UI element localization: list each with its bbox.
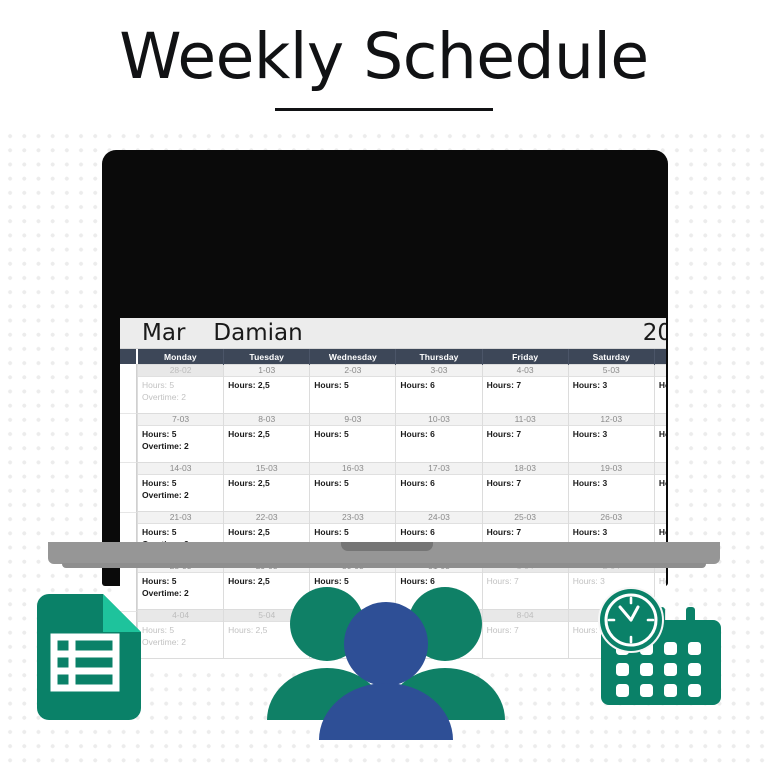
calendar-day-entry: Hours: 5: [314, 527, 395, 539]
calendar-day-number: 18-03: [483, 463, 568, 475]
spreadsheet-file-icon: [25, 580, 153, 730]
calendar-day-entry: Hours: 3: [573, 429, 654, 441]
calendar-day-entry: Hours: 5: [142, 478, 223, 490]
calendar-day-entries: Hours: 3: [569, 377, 654, 392]
calendar-day-header[interactable]: Tuesday: [224, 349, 310, 365]
calendar-day-header[interactable]: Su: [654, 349, 666, 365]
spreadsheet-file-icon-svg: [25, 580, 153, 725]
calendar-day-entry: Hours: 5: [314, 478, 395, 490]
calendar-day-entry: Hours: 2: [659, 478, 666, 490]
calendar-day-number: 26-03: [569, 512, 654, 524]
calendar-day-entry: Overtime: 2: [142, 490, 223, 502]
calendar-day-entries: Hours: 3: [569, 475, 654, 490]
row-header-cell[interactable]: [120, 414, 137, 464]
calendar-day-entry: Hours: 5: [142, 380, 223, 392]
calendar-day-entry: Hours: 2,5: [228, 429, 309, 441]
calendar-day-entry: Hours: 5: [314, 429, 395, 441]
calendar-day-cell[interactable]: 1-03Hours: 2,5: [224, 365, 310, 414]
calendar-day-entry: Hours: 7: [487, 478, 568, 490]
calendar-day-entry: Hours: 7: [487, 527, 568, 539]
calendar-day-header[interactable]: Monday: [138, 349, 224, 365]
clock-calendar-icon-svg: [590, 580, 750, 730]
calendar-day-entry: Hours: 6: [400, 478, 481, 490]
calendar-day-entries: Hours: 2,5: [224, 524, 309, 539]
calendar-day-entries: Hours: 2,5: [224, 426, 309, 441]
calendar-day-number: 23-03: [310, 512, 395, 524]
calendar-day-number: 25-03: [483, 512, 568, 524]
calendar-day-cell[interactable]: 14-03Hours: 5Overtime: 2: [138, 463, 224, 512]
row-header-cell[interactable]: [120, 364, 137, 414]
calendar-day-cell[interactable]: 13Hours: 2: [654, 414, 666, 463]
calendar-day-entry: Hours: 2: [659, 380, 666, 392]
calendar-week-row: 14-03Hours: 5Overtime: 215-03Hours: 2,51…: [138, 463, 667, 512]
clock-calendar-icon: [590, 580, 750, 735]
title-block: Weekly Schedule: [0, 0, 768, 126]
calendar-day-entry: Hours: 2,5: [228, 527, 309, 539]
calendar-day-cell[interactable]: 20Hours: 2: [654, 463, 666, 512]
calendar-day-entries: Hours: 3: [569, 426, 654, 441]
year-cell[interactable]: 20: [643, 322, 666, 345]
calendar-day-cell[interactable]: 28-02Hours: 5Overtime: 2: [138, 365, 224, 414]
calendar-day-cell[interactable]: 7-03Hours: 5Overtime: 2: [138, 414, 224, 463]
grid-corner-cell[interactable]: [120, 349, 137, 364]
calendar-day-cell[interactable]: 16-03Hours: 5: [310, 463, 396, 512]
calendar-day-entries: Hours: 2: [655, 377, 666, 392]
calendar-day-number: 4-03: [483, 365, 568, 377]
calendar-day-entries: Hours: 3: [569, 524, 654, 539]
calendar-day-number: 5-03: [569, 365, 654, 377]
calendar-day-entry: Hours: 3: [573, 527, 654, 539]
calendar-day-header[interactable]: Saturday: [568, 349, 654, 365]
calendar-day-entry: Hours: 2: [659, 429, 666, 441]
calendar-day-header[interactable]: Thursday: [396, 349, 482, 365]
calendar-day-entries: Hours: 5: [310, 377, 395, 392]
calendar-day-entries: Hours: 2: [655, 426, 666, 441]
calendar-day-number: 28-02: [138, 365, 223, 377]
calendar-day-entry: Hours: 3: [573, 478, 654, 490]
calendar-day-number: 8-03: [224, 414, 309, 426]
calendar-day-entries: Hours: 5: [310, 475, 395, 490]
calendar-day-entry: Hours: 7: [487, 380, 568, 392]
calendar-day-entries: Hours: 2: [655, 524, 666, 539]
calendar-day-cell[interactable]: 18-03Hours: 7: [482, 463, 568, 512]
calendar-day-number: 10-03: [396, 414, 481, 426]
calendar-day-entries: Hours: 2,5: [224, 475, 309, 490]
calendar-day-cell[interactable]: 3-03Hours: 6: [396, 365, 482, 414]
calendar-day-entries: Hours: 5Overtime: 2: [138, 377, 223, 403]
calendar-day-number: 16-03: [310, 463, 395, 475]
calendar-day-cell[interactable]: 2-03Hours: 5: [310, 365, 396, 414]
calendar-day-entry: Hours: 5: [314, 380, 395, 392]
calendar-day-entries: Hours: 5: [310, 426, 395, 441]
calendar-day-number: 20: [655, 463, 666, 475]
calendar-day-number: 1-03: [224, 365, 309, 377]
calendar-day-entry: Hours: 6: [400, 380, 481, 392]
calendar-day-entries: Hours: 7: [483, 475, 568, 490]
calendar-header-row: MondayTuesdayWednesdayThursdayFridaySatu…: [138, 349, 667, 365]
title-underline-rule: [275, 108, 493, 111]
calendar-day-entry: Overtime: 2: [142, 441, 223, 453]
calendar-day-number: 19-03: [569, 463, 654, 475]
calendar-day-cell[interactable]: 6Hours: 2: [654, 365, 666, 414]
calendar-day-number: 17-03: [396, 463, 481, 475]
calendar-day-header[interactable]: Wednesday: [310, 349, 396, 365]
calendar-day-entry: Hours: 6: [400, 429, 481, 441]
employee-name-cell[interactable]: Damian: [213, 322, 302, 345]
laptop-base-shadow: [62, 563, 706, 568]
calendar-day-entry: Hours: 5: [142, 527, 223, 539]
calendar-day-entries: Hours: 6: [396, 475, 481, 490]
calendar-day-entries: Hours: 7: [483, 426, 568, 441]
calendar-day-entry: Overtime: 2: [142, 392, 223, 404]
calendar-day-entry: Hours: 6: [400, 527, 481, 539]
calendar-day-cell[interactable]: 17-03Hours: 6: [396, 463, 482, 512]
calendar-day-number: 24-03: [396, 512, 481, 524]
calendar-day-number: 7-03: [138, 414, 223, 426]
calendar-week-row: 28-02Hours: 5Overtime: 21-03Hours: 2,52-…: [138, 365, 667, 414]
calendar-day-entries: Hours: 2,5: [224, 377, 309, 392]
spreadsheet-top-row: Mar Damian 20: [120, 318, 666, 349]
icon-row: [0, 580, 768, 755]
laptop-mockup: Mar Damian 20 MondayTuesd: [0, 140, 768, 570]
calendar-day-entry: Hours: 5: [142, 429, 223, 441]
calendar-week-row: 7-03Hours: 5Overtime: 28-03Hours: 2,59-0…: [138, 414, 667, 463]
calendar-day-cell[interactable]: 4-03Hours: 7: [482, 365, 568, 414]
calendar-day-number: 22-03: [224, 512, 309, 524]
calendar-day-entry: Hours: 3: [573, 380, 654, 392]
calendar-day-header[interactable]: Friday: [482, 349, 568, 365]
row-header-cell[interactable]: [120, 463, 137, 513]
calendar-day-number: 11-03: [483, 414, 568, 426]
calendar-day-number: 3-03: [396, 365, 481, 377]
calendar-day-number: 6: [655, 365, 666, 377]
page-title: Weekly Schedule: [0, 0, 768, 88]
calendar-day-cell[interactable]: 5-03Hours: 3: [568, 365, 654, 414]
calendar-day-entry: Hours: 2: [659, 527, 666, 539]
calendar-day-entry: Hours: 2,5: [228, 380, 309, 392]
calendar-day-entries: Hours: 2: [655, 475, 666, 490]
calendar-day-entries: Hours: 7: [483, 377, 568, 392]
calendar-day-number: 12-03: [569, 414, 654, 426]
calendar-day-number: 9-03: [310, 414, 395, 426]
calendar-day-number: 2-03: [310, 365, 395, 377]
calendar-day-entries: Hours: 6: [396, 524, 481, 539]
month-cell[interactable]: Mar: [142, 322, 185, 345]
calendar-day-cell[interactable]: 19-03Hours: 3: [568, 463, 654, 512]
calendar-day-entry: Hours: 7: [487, 429, 568, 441]
calendar-day-number: 15-03: [224, 463, 309, 475]
calendar-day-entries: Hours: 6: [396, 377, 481, 392]
calendar-day-cell[interactable]: 15-03Hours: 2,5: [224, 463, 310, 512]
calendar-day-entries: Hours: 7: [483, 524, 568, 539]
calendar-day-cell[interactable]: 8-03Hours: 2,5: [224, 414, 310, 463]
calendar-day-number: 14-03: [138, 463, 223, 475]
calendar-day-number: 27: [655, 512, 666, 524]
calendar-day-entry: Hours: 2,5: [228, 478, 309, 490]
calendar-day-cell[interactable]: 9-03Hours: 5: [310, 414, 396, 463]
calendar-day-cell[interactable]: 12-03Hours: 3: [568, 414, 654, 463]
calendar-day-entries: Hours: 5Overtime: 2: [138, 475, 223, 501]
calendar-day-entries: Hours: 5: [310, 524, 395, 539]
calendar-day-entries: Hours: 5Overtime: 2: [138, 426, 223, 452]
team-people-icon-svg: [255, 580, 517, 740]
team-people-icon: [255, 580, 517, 745]
laptop-trackpad-notch: [341, 542, 433, 551]
calendar-day-cell[interactable]: 11-03Hours: 7: [482, 414, 568, 463]
calendar-day-cell[interactable]: 10-03Hours: 6: [396, 414, 482, 463]
calendar-day-entries: Hours: 6: [396, 426, 481, 441]
calendar-day-number: 13: [655, 414, 666, 426]
calendar-day-number: 21-03: [138, 512, 223, 524]
